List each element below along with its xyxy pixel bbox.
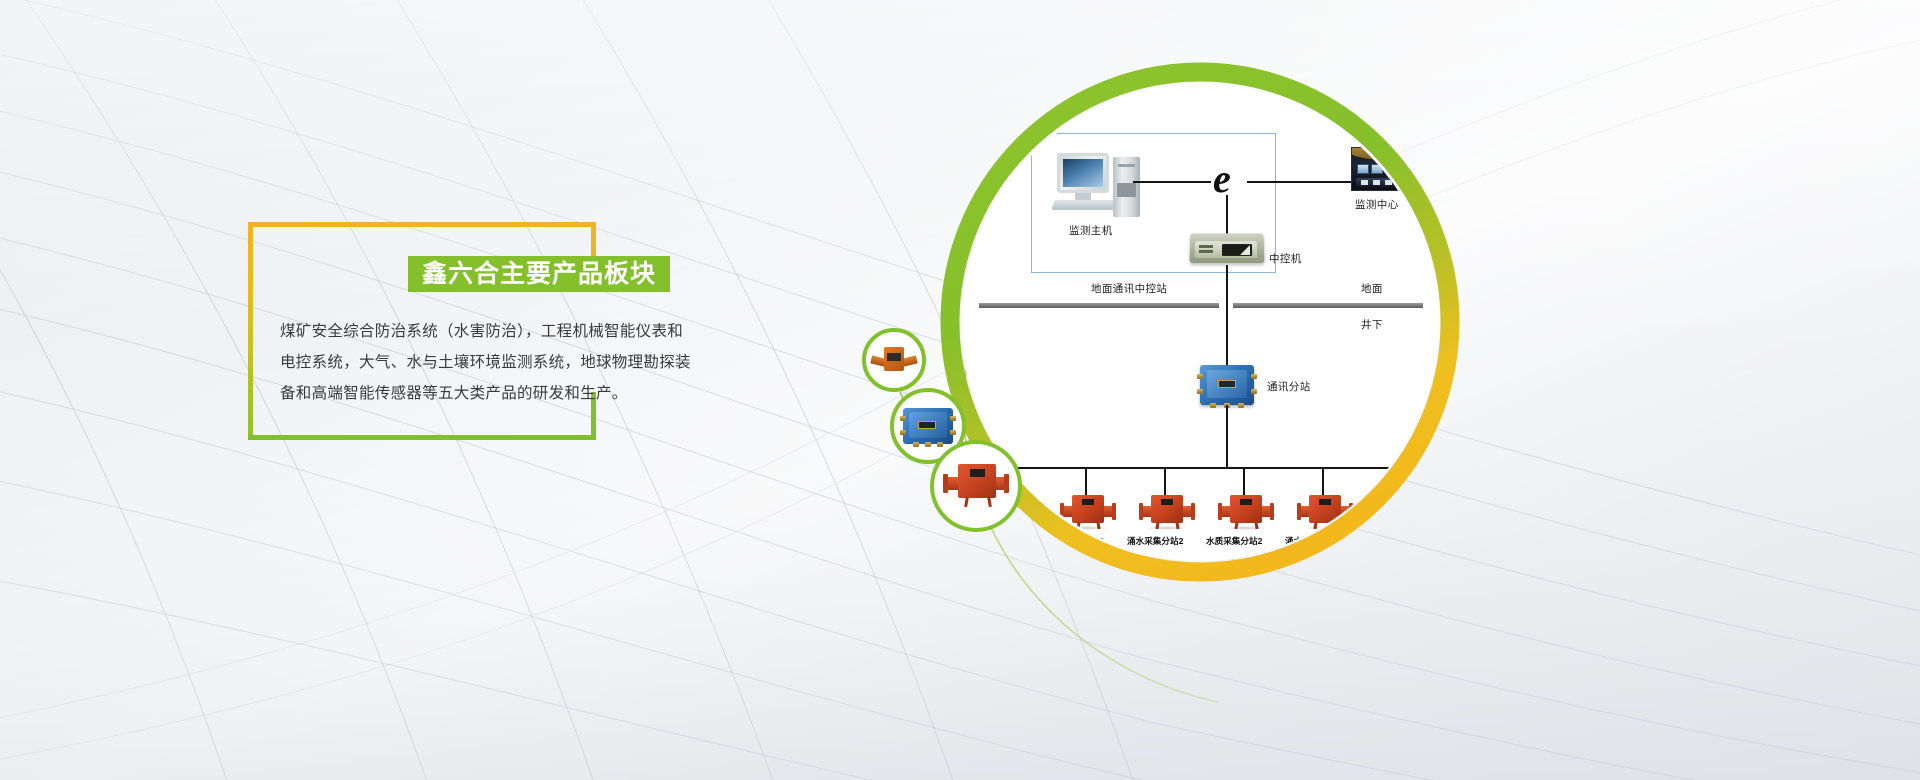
substation-knob-7: [1238, 403, 1244, 408]
description-line-3: 备和高端智能传感器等五大类产品的研发和生产。: [280, 378, 700, 409]
ground-separator-right: [1233, 303, 1423, 308]
communication-substation-icon: [1200, 365, 1254, 405]
pc-tower-icon: [1113, 157, 1140, 217]
red-collection-station-icon: [943, 464, 1009, 508]
section-title-banner: 鑫六合主要产品板块: [408, 256, 670, 292]
monitor-host-icon: [1057, 153, 1143, 215]
server-slot-b: [1199, 250, 1213, 253]
monitoring-center-photo: [1351, 147, 1419, 191]
orange-device-icon: [872, 347, 916, 373]
substation-knob-5: [1210, 403, 1216, 408]
substation-knob-4: [1251, 389, 1257, 394]
frame-border-top: [248, 222, 596, 227]
station-unit-5: [1297, 495, 1353, 529]
keyboard-icon: [1051, 200, 1116, 210]
frame-border-right-upper: [591, 222, 596, 260]
wire-network-to-center: [1247, 181, 1351, 183]
wire-host-to-network: [1133, 181, 1211, 183]
frame-border-bottom: [248, 435, 596, 440]
bus-drop-5: [1322, 467, 1324, 497]
server-slot-a: [1199, 245, 1213, 248]
bus-drop-6: [1401, 467, 1403, 497]
label-monitoring-center: 监测中心: [1355, 197, 1399, 212]
description-paragraph: 煤矿安全综合防治系统（水害防治），工程机械智能仪表和 电控系统，大气、水与土壤环…: [280, 316, 700, 409]
banner-stage: 鑫六合主要产品板块 煤矿安全综合防治系统（水害防治），工程机械智能仪表和 电控系…: [0, 0, 1920, 780]
substation-display: [1218, 380, 1236, 388]
center-screen-1: [1357, 164, 1369, 174]
substation-knob-3: [1251, 374, 1257, 379]
frame-border-left: [248, 222, 253, 440]
label-communication-substation: 通讯分站: [1267, 379, 1311, 394]
wire-substation-drop: [1226, 405, 1228, 467]
label-central-control: 中控机: [1269, 251, 1302, 266]
wire-network-to-server: [1226, 195, 1228, 235]
station-caption-6: 水质采集分站3: [1364, 535, 1420, 547]
content-frame: 鑫六合主要产品板块 煤矿安全综合防治系统（水害防治），工程机械智能仪表和 电控系…: [248, 222, 596, 440]
station-unit-6: [1376, 495, 1432, 529]
monitor-screen-icon: [1057, 153, 1109, 193]
station-caption-5: 涌水采集分站3: [1285, 535, 1341, 547]
substation-knob-1: [1197, 374, 1203, 379]
monitor-stand-icon: [1075, 193, 1091, 200]
center-console-desk: [1356, 178, 1416, 187]
description-line-2: 电控系统，大气、水与土壤环境监测系统，地球物理勘探装: [280, 347, 700, 378]
network-cloud-icon: e: [1213, 159, 1231, 199]
center-screen-4: [1399, 164, 1411, 174]
server-drive-bay: [1222, 244, 1252, 256]
station-caption-3: 涌水采集分站2: [1127, 535, 1183, 547]
page-title: 鑫六合主要产品板块: [422, 256, 656, 292]
ground-separator-left: [979, 303, 1219, 308]
product-bubble-red-collection-station[interactable]: [930, 440, 1022, 532]
blue-junction-box-icon: [903, 408, 953, 444]
product-bubble-orange-device[interactable]: [862, 328, 926, 392]
station-unit-3: [1139, 495, 1195, 529]
description-line-1: 煤矿安全综合防治系统（水害防治），工程机械智能仪表和: [280, 316, 700, 347]
station-caption-4: 水质采集分站2: [1206, 535, 1262, 547]
label-monitor-host: 监测主机: [1069, 223, 1113, 238]
system-diagram-composition: 监测主机 e 中控机: [900, 50, 1800, 740]
bus-drop-3: [1164, 467, 1166, 497]
bus-drop-4: [1243, 467, 1245, 497]
label-surface-zone: 地面: [1361, 281, 1383, 296]
label-ground-control-station: 地面通讯中控站: [1091, 281, 1167, 296]
substation-knob-2: [1197, 389, 1203, 394]
station-unit-4: [1218, 495, 1274, 529]
center-screen-3: [1385, 164, 1397, 174]
wire-server-to-substation: [1226, 265, 1228, 365]
center-ceiling-arc: [1351, 147, 1419, 160]
label-underground-zone: 井下: [1361, 317, 1383, 332]
center-screen-2: [1371, 164, 1383, 174]
central-control-server-icon: [1190, 233, 1265, 263]
